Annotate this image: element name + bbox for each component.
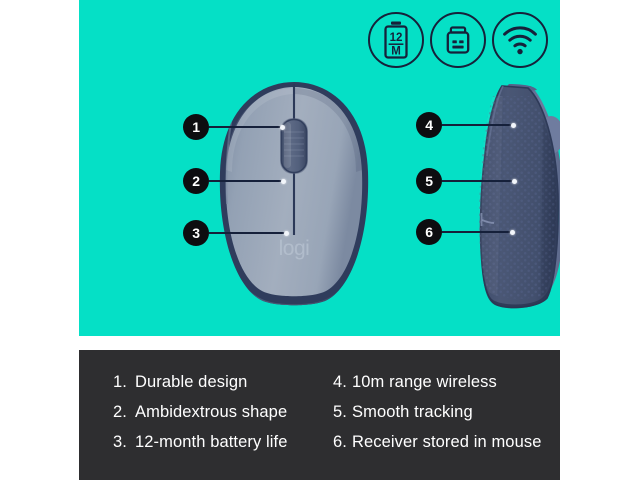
battery-icon-months-unit: M [391, 46, 401, 58]
callout-5-anchor-dot [512, 179, 517, 184]
callout-4-leader-line [442, 124, 512, 126]
callout-6-leader-line [442, 231, 511, 233]
feature-icon-row: 12 M [368, 12, 548, 68]
callout-1-anchor-dot [280, 125, 285, 130]
legend-item-5-text: Smooth tracking [352, 402, 473, 423]
legend-item-2-text: Ambidextrous shape [135, 402, 287, 423]
callout-6[interactable]: 6 [416, 219, 515, 245]
callout-5[interactable]: 5 [416, 168, 517, 194]
callout-6-anchor-dot [510, 230, 515, 235]
callout-1-number: 1 [183, 114, 209, 140]
legend-item-5-number: 5. [325, 402, 352, 423]
callout-2[interactable]: 2 [183, 168, 286, 194]
callout-1[interactable]: 1 [183, 114, 285, 140]
battery-icon-months-value: 12 [390, 32, 403, 44]
legend-item-1-number: 1. [79, 372, 135, 393]
legend-item-6-text: Receiver stored in mouse [352, 432, 541, 453]
callout-5-number: 5 [416, 168, 442, 194]
feature-legend-grid: 1. Durable design 4. 10m range wireless … [79, 372, 560, 453]
callout-4-number: 4 [416, 112, 442, 138]
legend-item-1: 1. Durable design [79, 372, 325, 393]
legend-item-3-number: 3. [79, 432, 135, 453]
legend-item-5: 5. Smooth tracking [325, 402, 560, 423]
legend-item-4-number: 4. [325, 372, 352, 393]
battery-12-month-icon: 12 M [368, 12, 424, 68]
hero-panel: 12 M [79, 0, 560, 336]
legend-item-1-text: Durable design [135, 372, 247, 393]
callout-6-number: 6 [416, 219, 442, 245]
legend-item-3: 3. 12-month battery life [79, 432, 325, 453]
callout-1-leader-line [209, 126, 281, 128]
legend-item-2-number: 2. [79, 402, 135, 423]
legend-item-6-number: 6. [325, 432, 352, 453]
callout-2-number: 2 [183, 168, 209, 194]
feature-legend-panel: 1. Durable design 4. 10m range wireless … [79, 350, 560, 480]
callout-2-anchor-dot [281, 179, 286, 184]
usb-receiver-icon [430, 12, 486, 68]
callout-2-leader-line [209, 180, 282, 182]
legend-item-2: 2. Ambidextrous shape [79, 402, 325, 423]
legend-item-4-text: 10m range wireless [352, 372, 497, 393]
wireless-signal-icon [492, 12, 548, 68]
callout-3-anchor-dot [284, 231, 289, 236]
legend-item-6: 6. Receiver stored in mouse [325, 432, 560, 453]
callout-3[interactable]: 3 [183, 220, 289, 246]
callout-4-anchor-dot [511, 123, 516, 128]
legend-item-3-text: 12-month battery life [135, 432, 288, 453]
callout-4[interactable]: 4 [416, 112, 516, 138]
legend-item-4: 4. 10m range wireless [325, 372, 560, 393]
callout-3-number: 3 [183, 220, 209, 246]
callout-3-leader-line [209, 232, 285, 234]
callout-5-leader-line [442, 180, 513, 182]
